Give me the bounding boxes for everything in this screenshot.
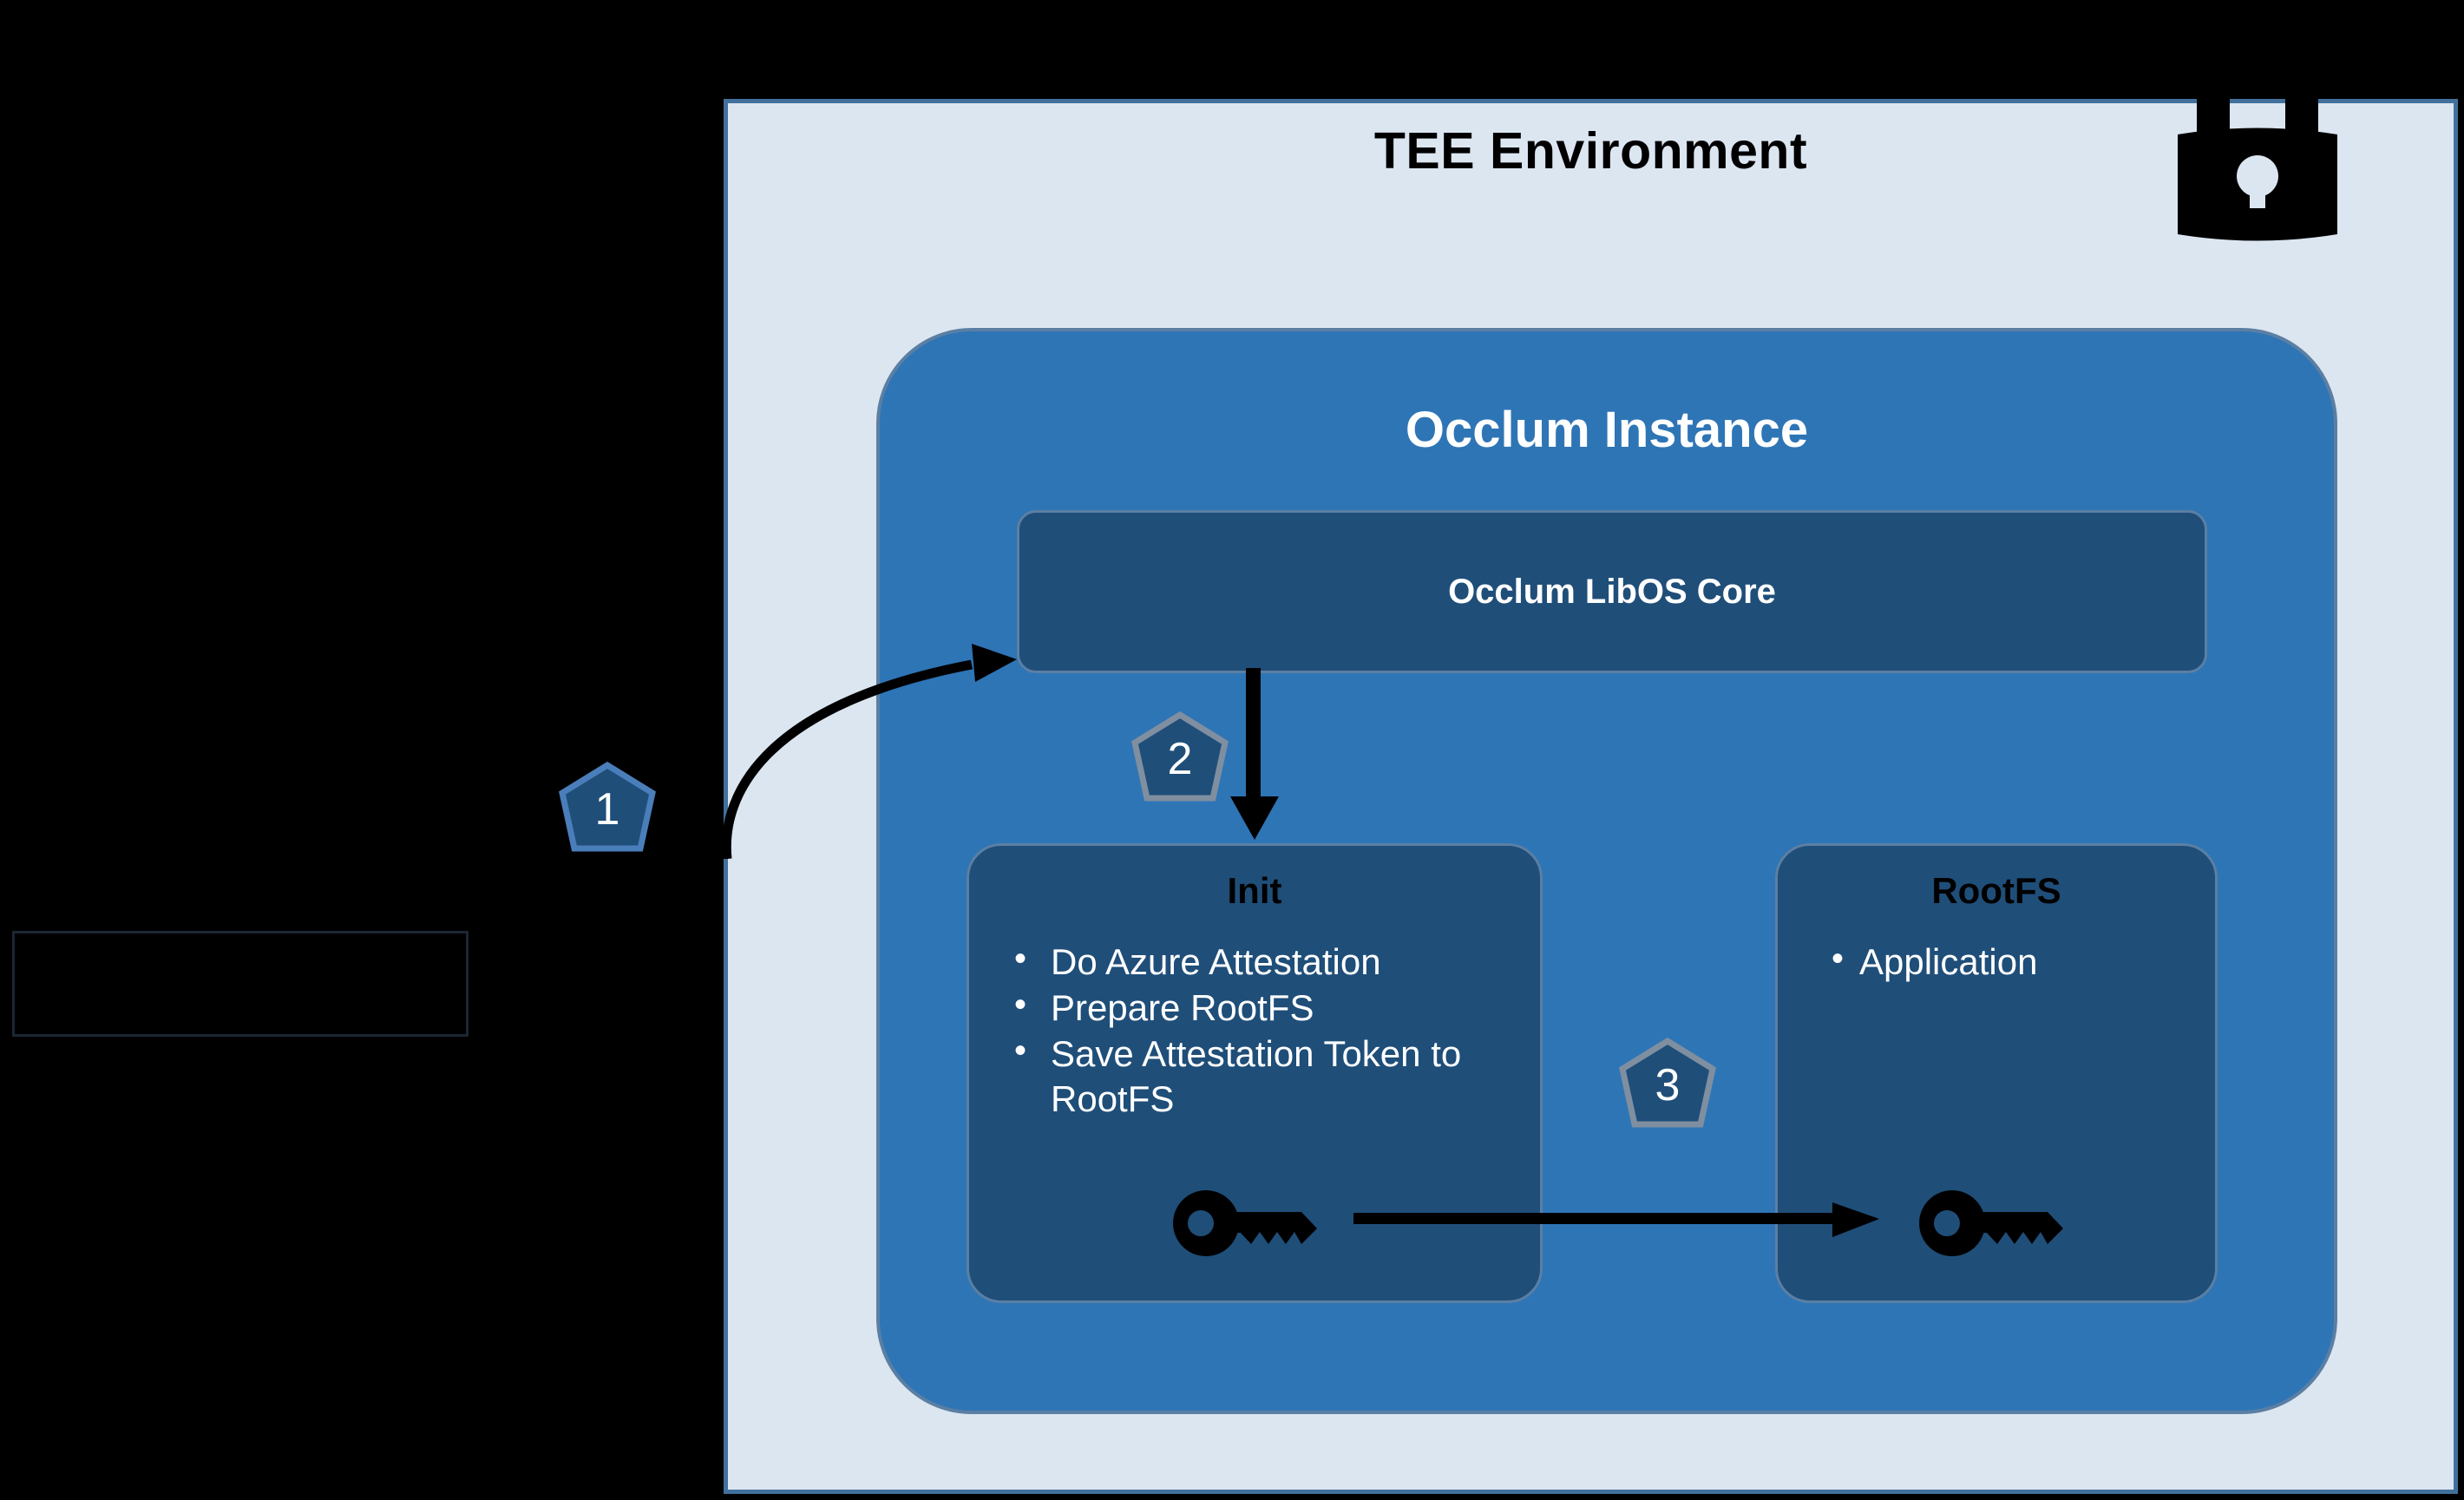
list-item: Prepare RootFS — [1004, 986, 1524, 1030]
key-icon — [1919, 1190, 2075, 1256]
rootfs-title: RootFS — [1778, 870, 2215, 912]
step-badge-label: 3 — [1615, 1038, 1720, 1133]
init-title: Init — [969, 870, 1540, 912]
step-badge-3: 3 — [1615, 1038, 1720, 1133]
occlum-libos-core-box: Occlum LibOS Core — [1017, 510, 2207, 673]
occlum-libos-core-label: Occlum LibOS Core — [1448, 573, 1776, 612]
diagram-canvas: TEE Environment Occlum Instance Occlum L… — [0, 0, 2464, 1500]
step-badge-1: 1 — [555, 762, 659, 857]
list-item: Application — [1812, 940, 2203, 984]
occlum-instance-title: Occlum Instance — [876, 401, 2337, 459]
lock-icon — [2162, 0, 2353, 260]
rootfs-bullet-list: Application — [1812, 940, 2203, 984]
step-badge-label: 1 — [555, 762, 659, 857]
step-badge-2: 2 — [1128, 711, 1232, 807]
key-icon — [1173, 1190, 1329, 1256]
list-item: Do Azure Attestation — [1004, 940, 1524, 984]
init-bullet-list: Do Azure Attestation Prepare RootFS Save… — [1004, 940, 1524, 1123]
empty-outline-rect — [12, 931, 469, 1037]
list-item: Save Attestation Token to RootFS — [1004, 1032, 1524, 1120]
step-badge-label: 2 — [1128, 711, 1232, 807]
